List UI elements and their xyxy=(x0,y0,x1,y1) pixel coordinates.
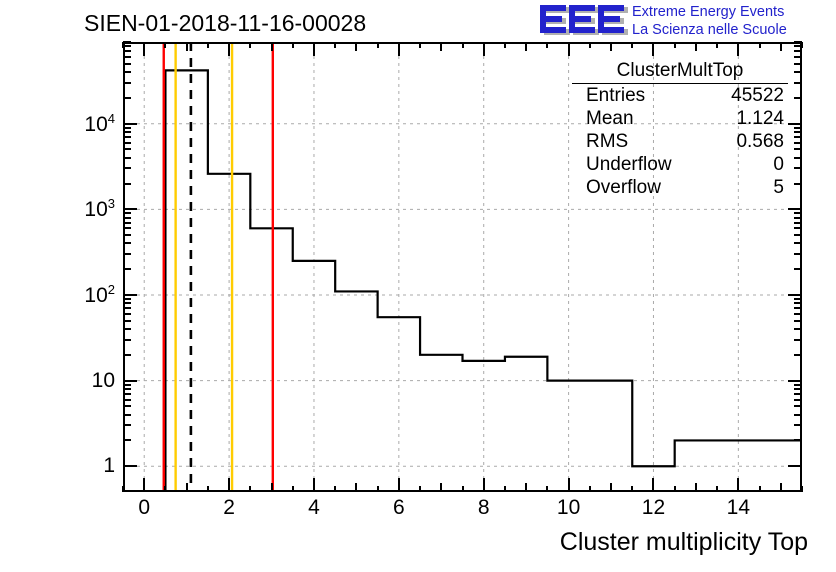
y-tick-right xyxy=(794,227,802,229)
eee-logo-line1: Extreme Energy Events xyxy=(632,3,787,21)
x-tick-top xyxy=(759,42,761,48)
stats-row-value: 45522 xyxy=(731,84,784,107)
y-tick-right xyxy=(794,388,802,390)
y-tick-right xyxy=(794,320,802,322)
y-tick-right xyxy=(794,307,802,309)
x-tick-bottom xyxy=(504,486,506,492)
x-tick-top xyxy=(228,42,230,56)
x-tick-bottom xyxy=(334,486,336,492)
y-tick-label: 1 xyxy=(0,454,115,478)
y-tick-left xyxy=(123,399,131,401)
y-tick-label: 102 xyxy=(0,282,115,308)
y-tick-right xyxy=(788,208,802,210)
stats-row-key: Entries xyxy=(586,84,645,107)
x-tick-top xyxy=(780,42,782,51)
eee-logo-line2: La Scienza nelle Scuole xyxy=(632,21,787,39)
x-tick-top xyxy=(440,42,442,51)
stats-title: ClusterMultTop xyxy=(572,60,788,84)
y-tick-left xyxy=(123,253,131,255)
x-tick-top xyxy=(377,42,379,48)
y-tick-left xyxy=(123,157,131,159)
y-tick-right xyxy=(794,63,802,65)
y-tick-right xyxy=(794,97,802,99)
y-tick-label: 104 xyxy=(0,111,115,137)
y-tick-right xyxy=(794,405,802,407)
x-tick-label: 8 xyxy=(478,496,490,520)
x-tick-bottom xyxy=(525,483,527,492)
x-tick-top xyxy=(674,42,676,48)
x-tick-label: 14 xyxy=(727,496,750,520)
y-tick-right xyxy=(794,50,802,52)
y-tick-left xyxy=(123,97,131,99)
x-tick-top xyxy=(164,42,166,48)
y-tick-right xyxy=(788,123,802,125)
y-tick-right xyxy=(794,148,802,150)
x-tick-bottom xyxy=(186,483,188,492)
x-tick-top xyxy=(631,42,633,48)
stats-row-value: 0 xyxy=(773,153,784,176)
y-tick-right xyxy=(794,212,802,214)
x-tick-top xyxy=(546,42,548,48)
y-tick-left xyxy=(123,234,131,236)
y-tick-right xyxy=(794,234,802,236)
x-tick-bottom xyxy=(780,483,782,492)
y-tick-right xyxy=(788,465,802,467)
x-tick-bottom xyxy=(610,483,612,492)
stats-row-key: Overflow xyxy=(586,176,661,199)
y-tick-left xyxy=(123,465,137,467)
x-tick-bottom xyxy=(737,478,739,492)
stats-row-key: RMS xyxy=(586,130,628,153)
eee-logo-mark-icon xyxy=(536,4,628,38)
x-tick-top xyxy=(398,42,400,56)
x-tick-top xyxy=(716,42,718,48)
y-tick-right xyxy=(794,393,802,395)
x-tick-bottom xyxy=(377,486,379,492)
x-tick-label: 6 xyxy=(393,496,405,520)
x-tick-top xyxy=(249,42,251,48)
y-tick-left xyxy=(123,131,131,133)
x-tick-bottom xyxy=(631,486,633,492)
y-tick-left xyxy=(123,183,131,185)
y-tick-right xyxy=(794,298,802,300)
x-tick-top xyxy=(355,42,357,51)
y-tick-right xyxy=(794,399,802,401)
x-tick-bottom xyxy=(313,478,315,492)
y-tick-left xyxy=(123,302,131,304)
y-tick-right xyxy=(794,384,802,386)
x-tick-top xyxy=(695,42,697,51)
stats-row-key: Mean xyxy=(586,107,634,130)
y-tick-left xyxy=(123,167,131,169)
stats-rows: Entries45522Mean1.124RMS0.568Underflow0O… xyxy=(572,84,788,199)
x-tick-label: 12 xyxy=(642,496,665,520)
x-tick-top xyxy=(271,42,273,51)
x-tick-bottom xyxy=(249,486,251,492)
y-tick-left xyxy=(123,307,131,309)
y-tick-right xyxy=(788,380,802,382)
x-tick-top xyxy=(143,42,145,56)
x-tick-bottom xyxy=(207,486,209,492)
y-tick-right xyxy=(794,41,802,43)
y-tick-right xyxy=(794,424,802,426)
x-tick-top xyxy=(610,42,612,51)
x-tick-bottom xyxy=(122,486,124,492)
y-tick-right xyxy=(794,354,802,356)
y-tick-left xyxy=(123,414,131,416)
y-tick-left xyxy=(123,148,131,150)
stats-row-value: 0.568 xyxy=(736,130,784,153)
x-tick-bottom xyxy=(355,483,357,492)
y-tick-label: 10 xyxy=(0,369,115,393)
y-tick-left xyxy=(123,127,131,129)
y-tick-right xyxy=(794,82,802,84)
x-tick-bottom xyxy=(462,486,464,492)
x-tick-bottom xyxy=(716,486,718,492)
stats-row: Underflow0 xyxy=(572,153,788,176)
x-tick-bottom xyxy=(440,483,442,492)
y-tick-right xyxy=(794,439,802,441)
y-tick-left xyxy=(123,142,131,144)
stats-row: Entries45522 xyxy=(572,84,788,107)
stats-row: RMS0.568 xyxy=(572,130,788,153)
y-tick-right xyxy=(794,217,802,219)
y-tick-right xyxy=(794,136,802,138)
y-tick-left xyxy=(123,439,131,441)
y-tick-left xyxy=(123,242,131,244)
y-tick-left xyxy=(123,222,131,224)
y-tick-left xyxy=(123,313,131,315)
y-tick-right xyxy=(794,253,802,255)
x-tick-top xyxy=(334,42,336,48)
y-tick-right xyxy=(794,45,802,47)
y-tick-right xyxy=(794,142,802,144)
x-tick-bottom xyxy=(674,486,676,492)
x-tick-bottom xyxy=(419,486,421,492)
y-tick-right xyxy=(794,313,802,315)
x-tick-bottom xyxy=(589,486,591,492)
y-tick-right xyxy=(794,71,802,73)
x-tick-top xyxy=(313,42,315,56)
stats-row: Mean1.124 xyxy=(572,107,788,130)
y-tick-left xyxy=(123,82,131,84)
x-tick-bottom xyxy=(801,486,803,492)
y-tick-left xyxy=(123,41,131,43)
x-tick-bottom xyxy=(143,478,145,492)
y-tick-right xyxy=(794,131,802,133)
x-tick-bottom xyxy=(652,478,654,492)
x-tick-bottom xyxy=(398,478,400,492)
y-tick-right xyxy=(794,242,802,244)
x-tick-label: 4 xyxy=(308,496,320,520)
y-tick-left xyxy=(123,294,137,296)
x-tick-top xyxy=(525,42,527,51)
y-tick-left xyxy=(123,227,131,229)
y-tick-right xyxy=(788,294,802,296)
eee-logo: Extreme Energy Events La Scienza nelle S… xyxy=(536,2,836,42)
x-tick-top xyxy=(207,42,209,48)
y-tick-right xyxy=(794,222,802,224)
y-tick-left xyxy=(123,384,131,386)
x-tick-bottom xyxy=(568,478,570,492)
y-tick-right xyxy=(794,414,802,416)
x-tick-top xyxy=(483,42,485,56)
x-tick-bottom xyxy=(759,486,761,492)
y-tick-left xyxy=(123,298,131,300)
y-tick-right xyxy=(794,328,802,330)
stats-row-key: Underflow xyxy=(586,153,672,176)
x-tick-bottom xyxy=(546,486,548,492)
y-tick-right xyxy=(794,56,802,58)
x-tick-bottom xyxy=(695,483,697,492)
y-tick-left xyxy=(123,405,131,407)
stats-row-value: 1.124 xyxy=(736,107,784,130)
y-tick-left xyxy=(123,328,131,330)
y-tick-left xyxy=(123,393,131,395)
x-tick-top xyxy=(292,42,294,48)
stats-box: ClusterMultTop Entries45522Mean1.124RMS0… xyxy=(572,60,788,199)
y-tick-right xyxy=(794,127,802,129)
y-tick-right xyxy=(794,339,802,341)
x-tick-label: 0 xyxy=(138,496,150,520)
y-tick-right xyxy=(794,302,802,304)
y-tick-left xyxy=(123,320,131,322)
eee-logo-text: Extreme Energy Events La Scienza nelle S… xyxy=(632,3,787,39)
y-tick-left xyxy=(123,217,131,219)
y-tick-left xyxy=(123,136,131,138)
x-tick-bottom xyxy=(292,486,294,492)
x-axis-title: Cluster multiplicity Top xyxy=(560,528,808,557)
x-tick-top xyxy=(419,42,421,48)
x-tick-top xyxy=(504,42,506,48)
x-tick-top xyxy=(186,42,188,51)
y-tick-left xyxy=(123,45,131,47)
y-tick-left xyxy=(123,380,137,382)
x-tick-top xyxy=(652,42,654,56)
y-tick-left xyxy=(123,339,131,341)
y-tick-left xyxy=(123,71,131,73)
x-tick-top xyxy=(462,42,464,48)
y-tick-left xyxy=(123,63,131,65)
y-tick-left xyxy=(123,388,131,390)
y-tick-left xyxy=(123,354,131,356)
stats-row: Overflow5 xyxy=(572,176,788,199)
y-tick-right xyxy=(794,167,802,169)
x-tick-bottom xyxy=(271,483,273,492)
y-tick-left xyxy=(123,56,131,58)
y-tick-right xyxy=(794,183,802,185)
x-tick-label: 10 xyxy=(557,496,580,520)
y-tick-left xyxy=(123,50,131,52)
y-tick-left xyxy=(123,424,131,426)
y-tick-left xyxy=(123,212,131,214)
y-tick-right xyxy=(794,268,802,270)
page-title: SIEN-01-2018-11-16-00028 xyxy=(84,10,366,37)
y-tick-left xyxy=(123,123,137,125)
x-tick-top xyxy=(737,42,739,56)
x-tick-bottom xyxy=(228,478,230,492)
root-canvas: SIEN-01-2018-11-16-00028 xyxy=(0,0,836,572)
y-tick-right xyxy=(794,157,802,159)
y-tick-label: 103 xyxy=(0,196,115,222)
x-tick-top xyxy=(568,42,570,56)
stats-row-value: 5 xyxy=(773,176,784,199)
y-tick-left xyxy=(123,208,137,210)
x-tick-top xyxy=(589,42,591,48)
x-tick-bottom xyxy=(483,478,485,492)
y-tick-left xyxy=(123,268,131,270)
x-tick-label: 2 xyxy=(223,496,235,520)
x-tick-bottom xyxy=(164,486,166,492)
